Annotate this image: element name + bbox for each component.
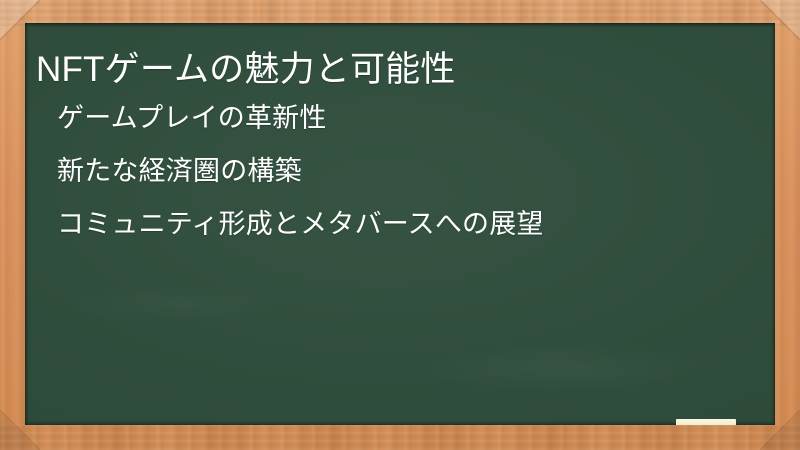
- chalk-icon: [676, 419, 736, 425]
- bullet-item: ゲームプレイの革新性: [57, 105, 544, 132]
- slide-title: NFTゲームの魅力と可能性: [36, 41, 456, 92]
- blackboard: NFTゲームの魅力と可能性 ゲームプレイの革新性 新たな経済圏の構築 コミュニテ…: [25, 23, 775, 425]
- bullet-list: ゲームプレイの革新性 新たな経済圏の構築 コミュニティ形成とメタバースへの展望: [57, 105, 544, 238]
- bullet-item: コミュニティ形成とメタバースへの展望: [57, 211, 544, 238]
- bullet-item: 新たな経済圏の構築: [57, 158, 544, 185]
- frame-grain-bottom: [0, 424, 800, 450]
- blackboard-slide: NFTゲームの魅力と可能性 ゲームプレイの革新性 新たな経済圏の構築 コミュニテ…: [0, 0, 800, 450]
